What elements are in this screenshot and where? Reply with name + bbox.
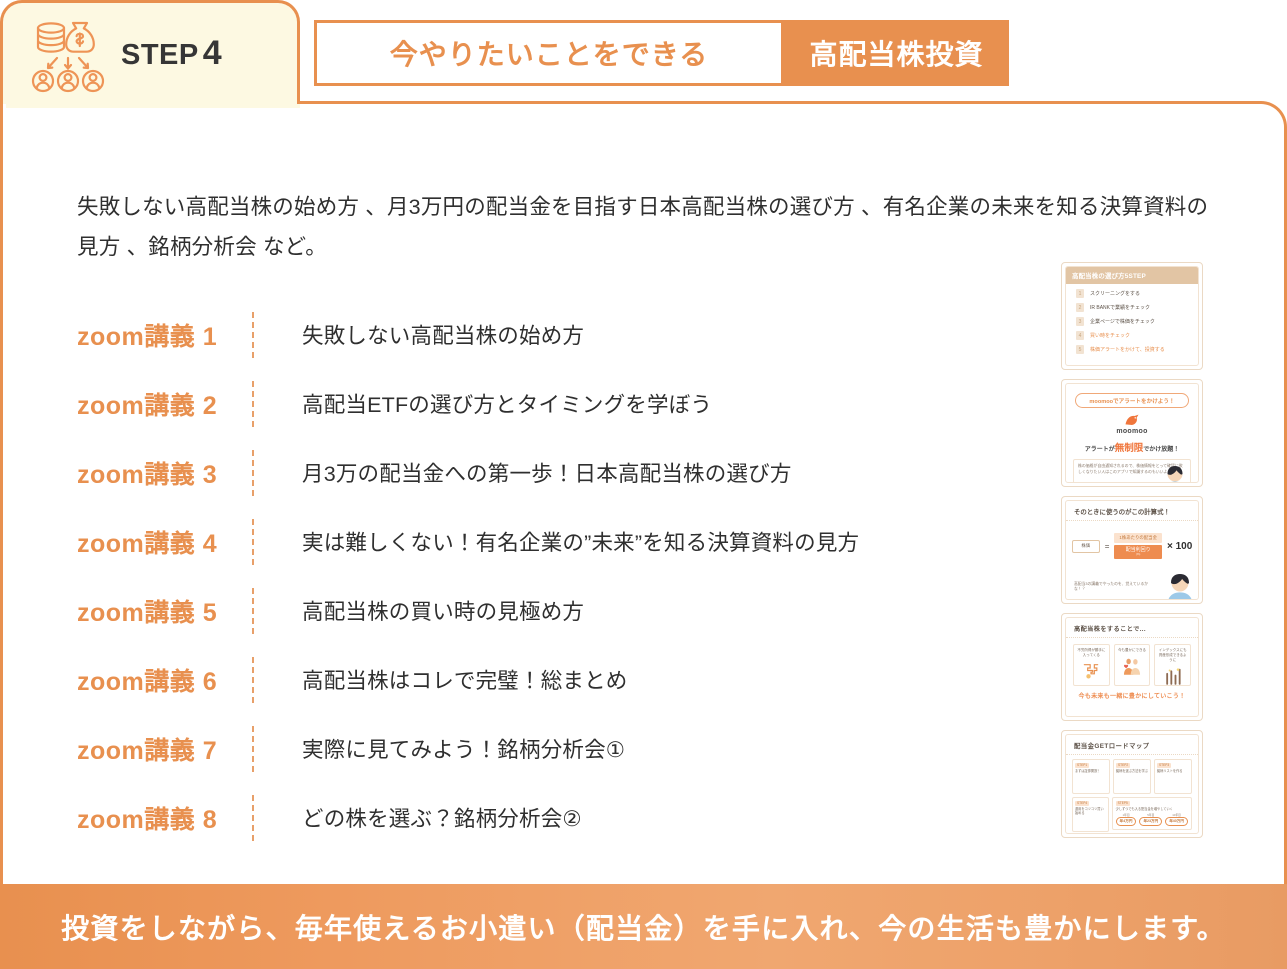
- lecture-title: 実は難しくない！有名企業の”未来”を知る決算資料の見方: [302, 526, 957, 557]
- thumbnail-body: 高配当株の選び方5STEP 1 スクリーニングをする 2 IR BANKで業績を…: [1065, 266, 1199, 366]
- step-badge: STEP5: [1116, 801, 1130, 806]
- lecture-label: zoom講義 7: [77, 731, 252, 767]
- thumbnail-step-row: 3 企業ページで株価をチェック: [1076, 317, 1190, 326]
- header-row: STEP4 今やりたいことをできる 高配当株投資: [0, 0, 1287, 105]
- lecture-row[interactable]: zoom講義 3 月3万の配当金への第一歩！日本高配当株の選び方: [77, 438, 957, 507]
- lecture-title: どの株を選ぶ？銘柄分析会②: [302, 802, 957, 833]
- row-divider: [252, 795, 254, 841]
- moomoo-wordmark: moomoo: [1066, 428, 1198, 435]
- lecture-title: 高配当株はコレで完璧！総まとめ: [302, 664, 957, 695]
- headline-emphasis: 無制限: [1115, 443, 1144, 454]
- benefit-card: 不労所得が勝手に入ってくる: [1073, 644, 1110, 686]
- lecture-label: zoom講義 5: [77, 593, 252, 629]
- benefit-card: 今も豊かにできる: [1114, 644, 1151, 686]
- thumbnail-body: moomooでアラートをかけよう！ moomoo アラートが無制限でかけ放題！ …: [1065, 383, 1199, 483]
- step-label: STEP4: [121, 34, 222, 73]
- progression-item: 5年目 年23万円: [1139, 813, 1162, 826]
- thumbnail-suruto-koto[interactable]: 高配当株をすることで... 不労所得が勝手に入ってくる 今も豊かにできる: [1061, 613, 1203, 721]
- row-divider: [252, 381, 254, 427]
- person-avatar-icon: [1165, 571, 1195, 600]
- row-divider: [252, 726, 254, 772]
- title-tabs: 今やりたいことをできる 高配当株投資: [314, 20, 1009, 86]
- faucet-coin-icon: [1076, 658, 1107, 680]
- thumbnail-body: そのときに使うのがこの計算式！ 株価 = 1株あたりの配当金 配当利回り (%)…: [1065, 500, 1199, 600]
- step-text: 企業ページで株価をチェック: [1090, 318, 1155, 325]
- lecture-row[interactable]: zoom講義 2 高配当ETFの選び方とタイミングを学ぼう: [77, 369, 957, 438]
- formula-denominator: 配当利回り (%): [1114, 545, 1162, 560]
- thumbnail-headline: アラートが無制限でかけ放題！: [1066, 440, 1198, 454]
- tab-high-dividend-investing[interactable]: 高配当株投資: [784, 20, 1009, 86]
- step-number-badge: 1: [1076, 289, 1084, 298]
- row-divider: [252, 450, 254, 496]
- formula-numerator: 1株あたりの配当金: [1114, 533, 1162, 543]
- step-tab[interactable]: STEP4: [0, 0, 300, 104]
- roadmap-step: STEP3 銘柄リストを作る: [1154, 759, 1192, 794]
- step-caption: 運用をコツコツ買い始める: [1075, 807, 1106, 815]
- step-text: 買い時をチェック: [1090, 332, 1130, 339]
- step-number-badge: 5: [1076, 345, 1084, 354]
- thumbnail-title: 配当金GETロードマップ: [1066, 735, 1198, 755]
- thumbnail-roadmap[interactable]: 配当金GETロードマップ STEP1 まずは証券開設！ STEP2 銘柄を選ぶ方…: [1061, 730, 1203, 838]
- thumbnail-title: そのときに使うのがこの計算式！: [1066, 501, 1198, 521]
- formula-multiplier: × 100: [1167, 541, 1192, 552]
- thumbnail-note: 高配当3の講義でやったのを、覚えているかな！？: [1074, 582, 1152, 593]
- step-number-badge: 2: [1076, 303, 1084, 312]
- step-caption: 銘柄リストを作る: [1157, 769, 1189, 773]
- lecture-row[interactable]: zoom講義 4 実は難しくない！有名企業の”未来”を知る決算資料の見方: [77, 507, 957, 576]
- progression-amount: 年40万円: [1165, 817, 1188, 826]
- section-description: 失敗しない高配当株の始め方 、月3万円の配当金を目指す日本高配当株の選び方 、有…: [77, 188, 1213, 268]
- row-divider: [252, 588, 254, 634]
- step-number: 4: [203, 34, 222, 72]
- headline-post: でかけ放題！: [1143, 447, 1179, 453]
- thumbnail-column: 高配当株の選び方5STEP 1 スクリーニングをする 2 IR BANKで業績を…: [1061, 262, 1203, 838]
- benefit-caption: インデックスにも資産形成できるように: [1157, 648, 1188, 663]
- lecture-title: 高配当株の買い時の見極め方: [302, 595, 957, 626]
- roadmap-step-final: STEP5 少しずつでも入る配当金を増やしていく 1年目 年4万円 5年目 年2…: [1112, 797, 1192, 830]
- thumbnail-pill-title: moomooでアラートをかけよう！: [1075, 393, 1189, 408]
- step-badge: STEP3: [1157, 763, 1171, 768]
- two-people-icon: [1117, 653, 1148, 675]
- lecture-label: zoom講義 1: [77, 317, 252, 353]
- formula-fraction: 1株あたりの配当金 配当利回り (%): [1114, 533, 1162, 559]
- thumbnail-footer: 今も未来も一緒に豊かにしていこう！: [1066, 691, 1198, 700]
- banner-text: 投資をしながら、毎年使えるお小遣い（配当金）を手に入れ、今の生活も豊かにします。: [61, 907, 1226, 947]
- benefit-caption: 不労所得が勝手に入ってくる: [1076, 648, 1107, 658]
- step-badge: STEP1: [1075, 763, 1089, 768]
- roadmap-step: STEP4 運用をコツコツ買い始める: [1072, 797, 1109, 832]
- step-caption: まずは証券開設！: [1075, 769, 1107, 773]
- thumbnail-keisanshiki[interactable]: そのときに使うのがこの計算式！ 株価 = 1株あたりの配当金 配当利回り (%)…: [1061, 496, 1203, 604]
- step-text: 株価アラートをかけて、投資する: [1090, 346, 1165, 353]
- formula-stock-price: 株価: [1072, 540, 1100, 553]
- growing-plant-icon: [1157, 663, 1188, 685]
- lecture-label: zoom講義 4: [77, 524, 252, 560]
- progression-item: 10年目 年40万円: [1165, 813, 1188, 826]
- thumbnail-takahaito-5step[interactable]: 高配当株の選び方5STEP 1 スクリーニングをする 2 IR BANKで業績を…: [1061, 262, 1203, 370]
- benefit-caption: 今も豊かにできる: [1117, 648, 1148, 653]
- step-caption: 銘柄を選ぶ方法を学ぶ: [1116, 769, 1148, 773]
- roadmap-steps-row2: STEP4 運用をコツコツ買い始める STEP5 少しずつでも入る配当金を増やし…: [1066, 794, 1198, 832]
- lecture-title: 実際に見てみよう！銘柄分析会①: [302, 733, 957, 764]
- lecture-list: zoom講義 1 失敗しない高配当株の始め方 zoom講義 2 高配当ETFの選…: [77, 300, 957, 852]
- formula-equals: =: [1105, 542, 1110, 551]
- progression-amount: 年4万円: [1116, 817, 1137, 826]
- lecture-row[interactable]: zoom講義 7 実際に見てみよう！銘柄分析会①: [77, 714, 957, 783]
- lecture-label: zoom講義 3: [77, 455, 252, 491]
- thumbnail-body: 高配当株をすることで... 不労所得が勝手に入ってくる 今も豊かにできる: [1065, 617, 1199, 717]
- roadmap-steps-row1: STEP1 まずは証券開設！ STEP2 銘柄を選ぶ方法を学ぶ STEP3 銘柄…: [1066, 755, 1198, 794]
- step-text: スクリーニングをする: [1090, 290, 1140, 297]
- thumbnail-title: 高配当株をすることで...: [1066, 618, 1198, 638]
- progression-item: 1年目 年4万円: [1116, 813, 1137, 826]
- dividend-progression: 1年目 年4万円 5年目 年23万円 10年目 年40万円: [1116, 813, 1188, 826]
- formula: 株価 = 1株あたりの配当金 配当利回り (%) × 100: [1066, 533, 1198, 559]
- thumbnail-moomoo-alert[interactable]: moomooでアラートをかけよう！ moomoo アラートが無制限でかけ放題！ …: [1061, 379, 1203, 487]
- progression-amount: 年23万円: [1139, 817, 1162, 826]
- row-divider: [252, 657, 254, 703]
- lecture-title: 月3万の配当金への第一歩！日本高配当株の選び方: [302, 457, 957, 488]
- thumbnail-title: 高配当株の選び方5STEP: [1066, 267, 1198, 284]
- headline-pre: アラートが: [1085, 447, 1115, 453]
- bottom-banner: 投資をしながら、毎年使えるお小遣い（配当金）を手に入れ、今の生活も豊かにします。: [0, 884, 1287, 969]
- lecture-row[interactable]: zoom講義 5 高配当株の買い時の見極め方: [77, 576, 957, 645]
- row-divider: [252, 519, 254, 565]
- step-badge: STEP2: [1116, 763, 1130, 768]
- step-number-badge: 4: [1076, 331, 1084, 340]
- thumbnail-body: 配当金GETロードマップ STEP1 まずは証券開設！ STEP2 銘柄を選ぶ方…: [1065, 734, 1199, 834]
- roadmap-step: STEP1 まずは証券開設！: [1072, 759, 1110, 794]
- thumbnail-steps: 1 スクリーニングをする 2 IR BANKで業績をチェック 3 企業ページで株…: [1066, 284, 1198, 354]
- step-word: STEP: [121, 39, 199, 71]
- step-badge: STEP4: [1075, 801, 1089, 806]
- lecture-label: zoom講義 8: [77, 800, 252, 836]
- thumbnail-step-row: 5 株価アラートをかけて、投資する: [1076, 345, 1190, 354]
- moomoo-logo-icon: [1124, 414, 1140, 427]
- lecture-row[interactable]: zoom講義 6 高配当株はコレで完璧！総まとめ: [77, 645, 957, 714]
- thumbnail-step-row: 4 買い時をチェック: [1076, 331, 1190, 340]
- benefit-cards: 不労所得が勝手に入ってくる 今も豊かにできる: [1066, 638, 1198, 686]
- row-divider: [252, 312, 254, 358]
- money-bag-coins-to-people-icon: [29, 14, 107, 94]
- tab-join-mask: [6, 104, 300, 108]
- step-caption: 少しずつでも入る配当金を増やしていく: [1116, 807, 1188, 811]
- lecture-title: 高配当ETFの選び方とタイミングを学ぼう: [302, 388, 957, 419]
- lecture-row[interactable]: zoom講義 8 どの株を選ぶ？銘柄分析会②: [77, 783, 957, 852]
- tab-now-want-to-do[interactable]: 今やりたいことをできる: [314, 20, 784, 86]
- progression-year: 1年目: [1116, 813, 1137, 817]
- thumbnail-step-row: 1 スクリーニングをする: [1076, 289, 1190, 298]
- lecture-title: 失敗しない高配当株の始め方: [302, 319, 957, 350]
- denominator-unit: (%): [1119, 553, 1157, 556]
- thumbnail-step-row: 2 IR BANKで業績をチェック: [1076, 303, 1190, 312]
- benefit-card: インデックスにも資産形成できるように: [1154, 644, 1191, 686]
- main-panel: 失敗しない高配当株の始め方 、月3万円の配当金を目指す日本高配当株の選び方 、有…: [0, 101, 1287, 885]
- thumbnail-note: 株の価格が自由通知されるので、株価情報をとって確認に欲しくなりたい人はこのアプリ…: [1073, 459, 1191, 483]
- roadmap-step: STEP2 銘柄を選ぶ方法を学ぶ: [1113, 759, 1151, 794]
- step-text: IR BANKで業績をチェック: [1090, 304, 1150, 311]
- lecture-label: zoom講義 2: [77, 386, 252, 422]
- step-number-badge: 3: [1076, 317, 1084, 326]
- lecture-row[interactable]: zoom講義 1 失敗しない高配当株の始め方: [77, 300, 957, 369]
- person-avatar-icon: [1162, 463, 1188, 483]
- lecture-label: zoom講義 6: [77, 662, 252, 698]
